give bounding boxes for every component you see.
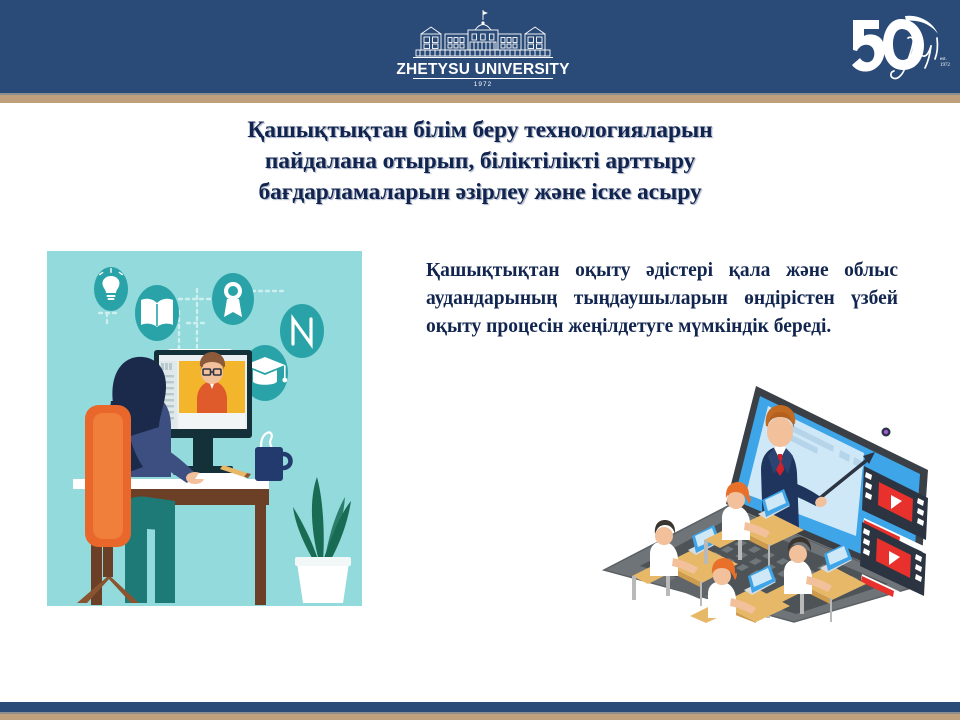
- left-illustration: [47, 251, 362, 606]
- university-emblem: ZHETYSU UNIVERSITY 1972: [383, 8, 583, 88]
- slide-title: Қашықтықтан білім беру технологияларын п…: [120, 115, 840, 208]
- anniversary-50-logo: est. 1972: [845, 10, 950, 85]
- emblem-year: 1972: [474, 81, 492, 88]
- anniversary-digit-5: [852, 20, 885, 72]
- slide-title-line-1: Қашықтықтан білім беру технологияларын: [120, 115, 840, 146]
- slide-title-line-3: бағдарламаларын әзірлеу және іске асыру: [120, 177, 840, 208]
- anniversary-sub-right: 1972: [940, 63, 950, 68]
- slide-title-line-2: пайдалана отырып, біліктілікті арттыру: [120, 146, 840, 177]
- anniversary-sub-left: est.: [940, 57, 947, 62]
- slide-canvas: ZHETYSU UNIVERSITY 1972 est. 1972: [0, 0, 960, 720]
- emblem-university-name: ZHETYSU UNIVERSITY: [396, 61, 570, 78]
- right-illustration: [588, 378, 936, 623]
- footer-accent-band: [0, 714, 960, 720]
- footer-bar: [0, 702, 960, 712]
- header-accent-band: [0, 95, 960, 103]
- desk-leg-right: [255, 505, 266, 605]
- body-paragraph: Қашықтықтан оқыту әдістері қала және обл…: [426, 257, 898, 341]
